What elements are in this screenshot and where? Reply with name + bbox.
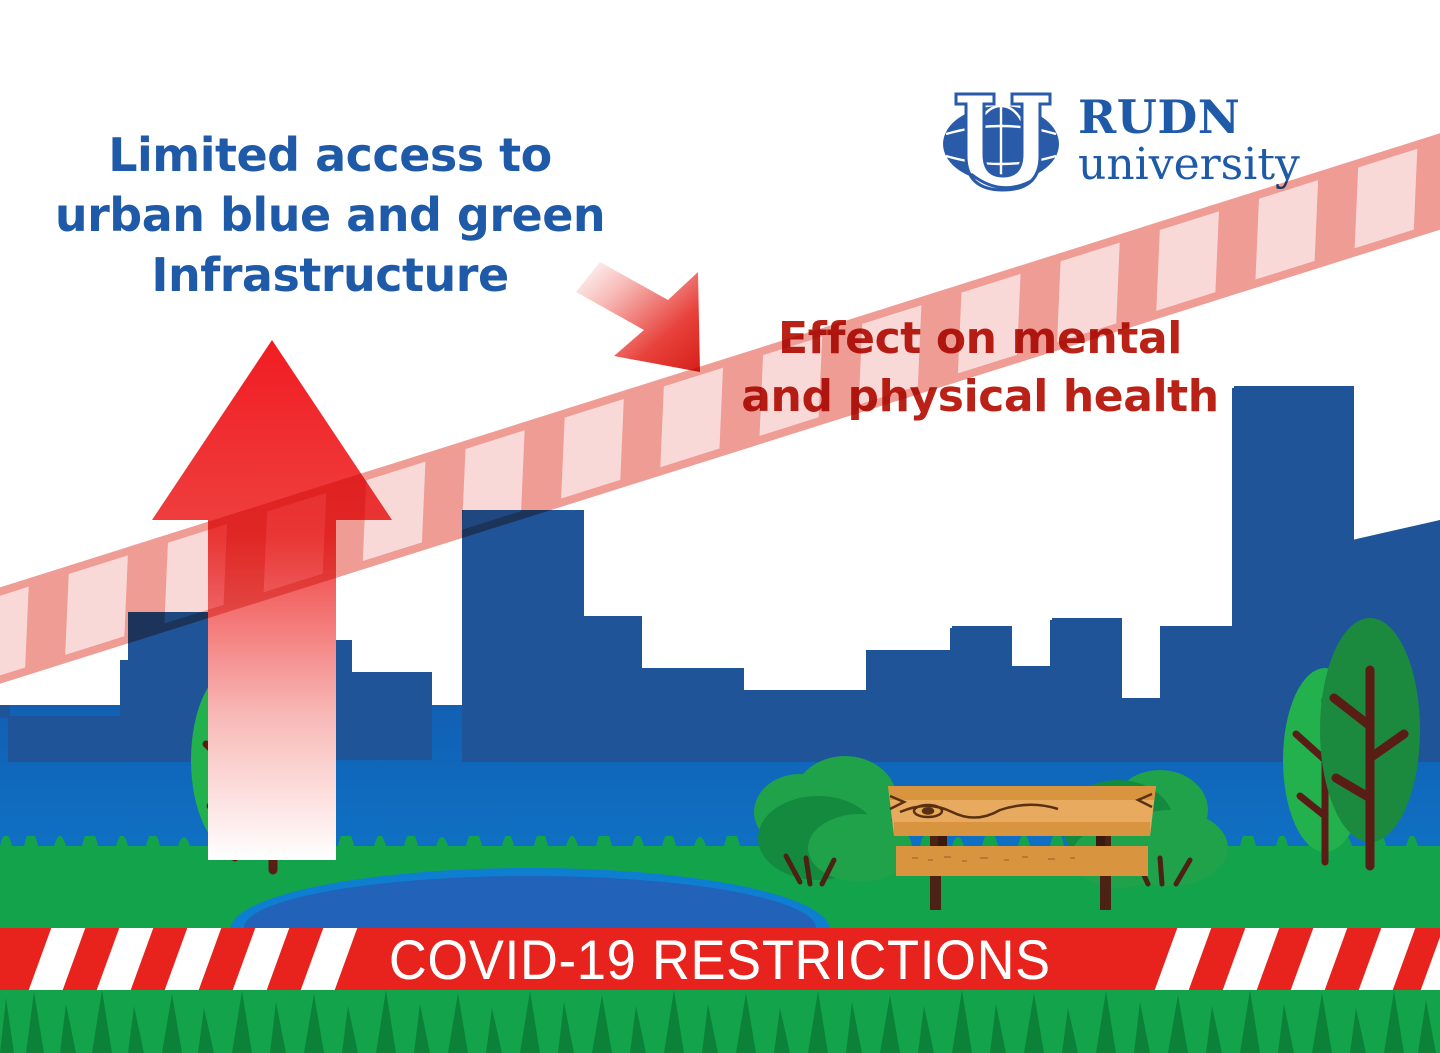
covid-restrictions-banner: COVID-19 RESTRICTIONS [0,928,1440,990]
logo-wordmark: RUDN university [1078,95,1300,186]
rudn-university-logo: RUDN university [938,82,1300,200]
banner-label: COVID-19 RESTRICTIONS [50,928,1389,990]
globe-u-monogram-icon [938,82,1064,200]
infographic-poster: COVID-19 RESTRICTIONS Limited access to … [0,0,1440,1053]
logo-line-1: RUDN [1078,95,1300,141]
grass-bottom-strip [0,988,1440,1053]
logo-line-2: university [1078,143,1300,187]
headline-cause: Limited access to urban blue and green I… [30,126,630,305]
